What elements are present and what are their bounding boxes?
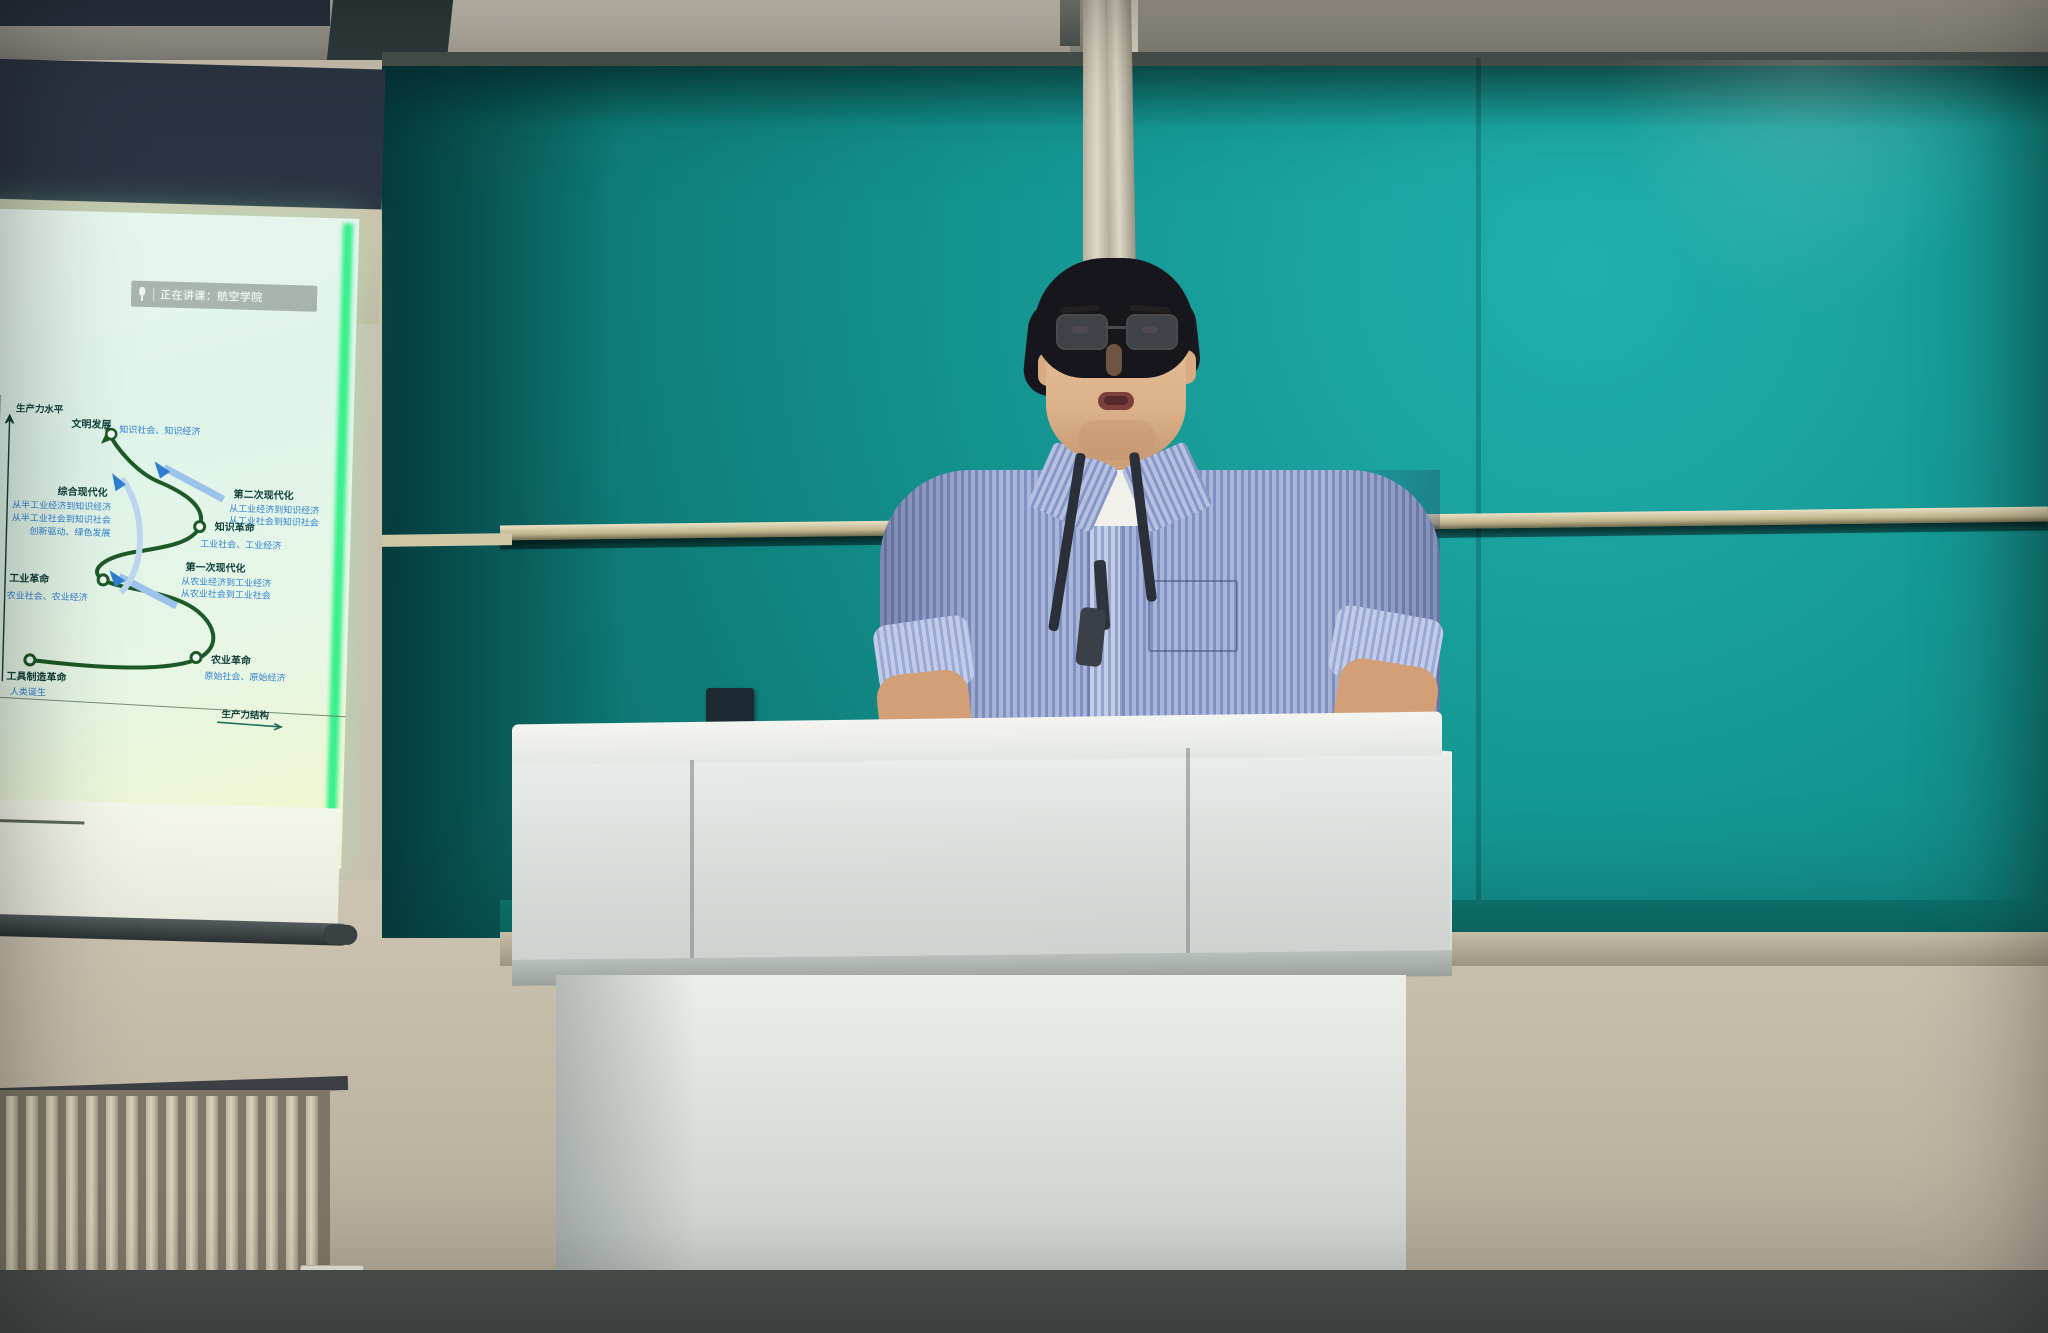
node-industrial-revolution <box>98 575 108 585</box>
x-axis-label: 生产力结构 <box>221 708 269 721</box>
glasses-lens-right <box>1126 314 1178 350</box>
glasses-lens-left <box>1056 314 1108 350</box>
lectern-front <box>512 755 1450 965</box>
node-agricultural-revolution <box>191 652 201 662</box>
annot-1-sub: 工业社会、工业经济 <box>200 538 281 551</box>
annot-3-label: 农业革命 <box>210 653 252 667</box>
ceiling-strip <box>430 0 1070 58</box>
development-curve <box>30 428 219 670</box>
node-knowledge-revolution <box>195 521 205 531</box>
shirt-pocket <box>1148 580 1238 652</box>
lectern-seam-left <box>690 760 694 960</box>
stage-1-line-0: 从农业经济到工业经济 <box>181 575 271 589</box>
y-axis-label: 生产力水平 <box>16 402 64 415</box>
ceiling-dark-panel <box>0 0 330 26</box>
projection-screen-assembly: 正在讲课：航空学院 <box>0 59 386 900</box>
stage-1-line-1: 从农业社会到工业社会 <box>181 587 271 601</box>
chin <box>1078 420 1156 456</box>
mouth-interior <box>1104 396 1128 405</box>
comprehensive-line-2: 创新驱动、绿色发展 <box>29 525 110 538</box>
chart-svg: 生产力水平 生产力结构 文明发展 知识社会、知识经济 知识革命 工业社会、工业经… <box>0 389 356 759</box>
comprehensive-line-1: 从半工业社会到知识社会 <box>12 511 111 525</box>
banner-divider <box>153 287 154 301</box>
live-status-text: 正在讲课：航空学院 <box>160 286 263 305</box>
lecture-hall-photo: 正在讲课：航空学院 <box>0 0 2048 1333</box>
nose <box>1106 344 1122 376</box>
annot-0-label: 文明发展 <box>71 417 111 431</box>
microphone-icon <box>137 287 147 301</box>
annot-2-sub: 农业社会、农业经济 <box>7 589 88 602</box>
screen-case <box>0 59 386 220</box>
node-tool-revolution <box>25 655 35 665</box>
stage-0-name: 第二次现代化 <box>233 488 293 503</box>
comprehensive-name: 综合现代化 <box>57 485 107 499</box>
annot-2-label: 工业革命 <box>9 571 50 585</box>
annot-3-sub: 原始社会、原始经济 <box>204 670 285 683</box>
annot-4-sub: 人类诞生 <box>10 685 46 697</box>
glasses-bridge <box>1104 326 1128 329</box>
annot-0-sub: 知识社会、知识经济 <box>119 423 200 436</box>
chalk-rail-left-stub <box>382 533 512 547</box>
ceiling-beam <box>327 0 453 60</box>
slide-chart: 生产力水平 生产力结构 文明发展 知识社会、知识经济 知识革命 工业社会、工业经… <box>0 389 356 759</box>
annot-4-label: 工具制造革命 <box>6 669 67 684</box>
comprehensive-line-0: 从半工业经济到知识经济 <box>12 498 111 512</box>
stage-0-line-0: 从工业经济到知识经济 <box>229 502 319 516</box>
lectern-seam-right <box>1186 748 1190 960</box>
blackboard-panel-seam <box>1476 58 1481 938</box>
floor <box>0 1270 2048 1333</box>
screen-lower-band <box>0 798 341 929</box>
screen-roller-knob[interactable] <box>323 924 358 945</box>
lamp-glare <box>1600 60 2020 320</box>
live-status-banner: 正在讲课：航空学院 <box>131 281 318 312</box>
stage-1-name: 第一次现代化 <box>185 560 245 575</box>
